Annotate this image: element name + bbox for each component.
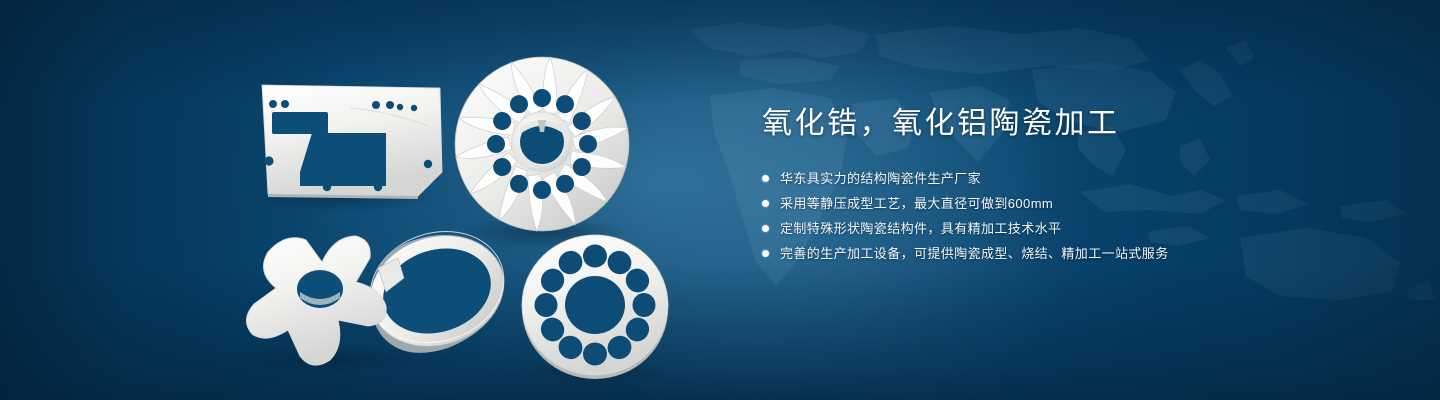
- feature-item-label: 华东具实力的结构陶瓷件生产厂家: [780, 166, 981, 191]
- banner-copy: 氧化锆，氧化铝陶瓷加工 华东具实力的结构陶瓷件生产厂家 采用等静压成型工艺，最大…: [762, 104, 1362, 266]
- bullet-dot-icon: [762, 175, 769, 182]
- hero-banner: 氧化锆，氧化铝陶瓷加工 华东具实力的结构陶瓷件生产厂家 采用等静压成型工艺，最大…: [0, 0, 1440, 400]
- ceramic-impeller: [455, 57, 629, 232]
- feature-item-label: 完善的生产加工设备，可提供陶瓷成型、烧结、精加工一站式服务: [780, 241, 1169, 266]
- feature-item-label: 采用等静压成型工艺，最大直径可做到600mm: [780, 191, 1053, 216]
- bullet-dot-icon: [762, 250, 769, 257]
- banner-headline: 氧化锆，氧化铝陶瓷加工: [762, 104, 1362, 144]
- feature-item: 完善的生产加工设备，可提供陶瓷成型、烧结、精加工一站式服务: [762, 241, 1362, 266]
- feature-item: 定制特殊形状陶瓷结构件，具有精加工技术水平: [762, 216, 1362, 241]
- ceramic-plate: [262, 85, 442, 199]
- feature-item: 采用等静压成型工艺，最大直径可做到600mm: [762, 191, 1362, 216]
- feature-item: 华东具实力的结构陶瓷件生产厂家: [762, 166, 1362, 191]
- ceramic-perforated-disc: [522, 235, 668, 379]
- bullet-dot-icon: [762, 225, 769, 232]
- product-image-cluster: [0, 0, 720, 400]
- feature-item-label: 定制特殊形状陶瓷结构件，具有精加工技术水平: [780, 216, 1061, 241]
- bullet-dot-icon: [762, 200, 769, 207]
- feature-list: 华东具实力的结构陶瓷件生产厂家 采用等静压成型工艺，最大直径可做到600mm 定…: [762, 166, 1362, 266]
